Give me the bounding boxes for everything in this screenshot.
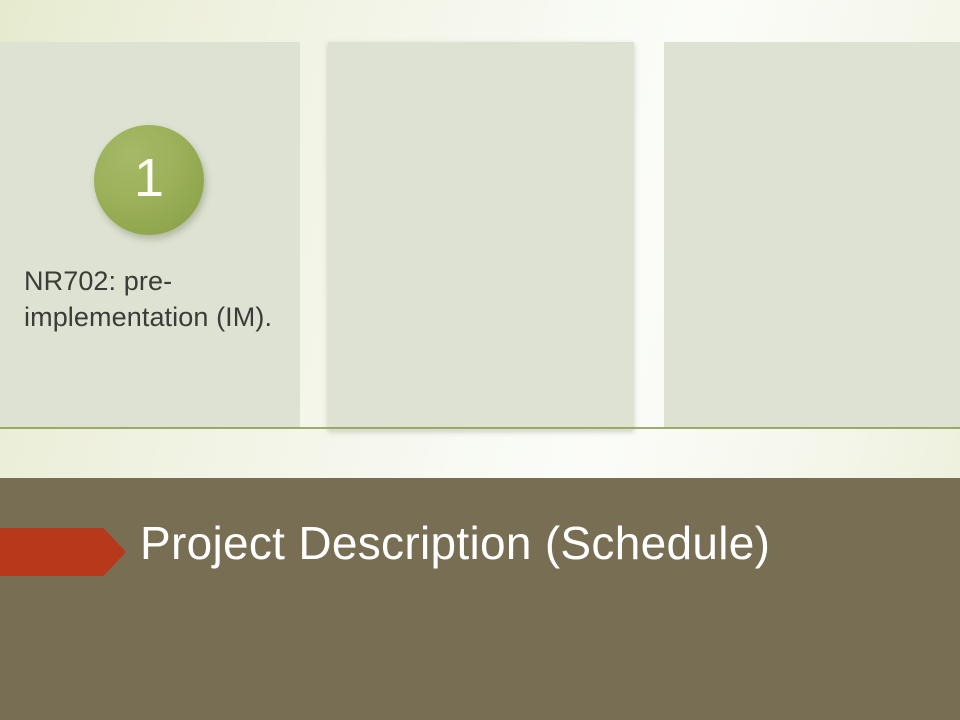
- step-number-label-1: 1: [134, 151, 164, 205]
- step-card-1[interactable]: 1 NR702: pre-implementation (IM).: [0, 42, 300, 428]
- step-card-text-1: NR702: pre-implementation (IM).: [24, 264, 286, 335]
- slide-title-band: Project Description (Schedule): [0, 478, 960, 720]
- cards-underline-rule: [0, 427, 960, 429]
- slide: 1 NR702: pre-implementation (IM). 2 NR70…: [0, 0, 960, 720]
- slide-title: Project Description (Schedule): [140, 516, 940, 571]
- right-arrow-pentagon-icon: [0, 528, 126, 576]
- step-card-3[interactable]: 3 NR707- NR709: evaluation, disseminatio…: [664, 42, 960, 428]
- step-number-badge-1: 1: [94, 125, 204, 235]
- slide-content-area: 1 NR702: pre-implementation (IM). 2 NR70…: [0, 0, 960, 478]
- step-card-2[interactable]: 2 NR705: implementation (RT).: [328, 42, 634, 430]
